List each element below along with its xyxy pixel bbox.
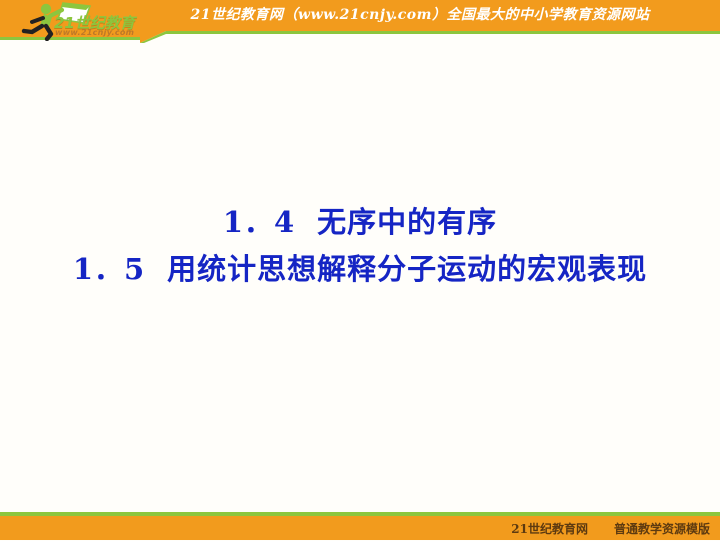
slide-title-line-2-text: 用统计思想解释分子运动的宏观表现 xyxy=(167,252,647,286)
slide-title-line-2: 1．5用统计思想解释分子运动的宏观表现 xyxy=(0,244,720,294)
slide-title-line-1: 1．4无序中的有序 xyxy=(0,200,720,244)
slide-title-line-2-number: 1．5 xyxy=(73,252,145,286)
slide-content-area: 1．4无序中的有序 1．5用统计思想解释分子运动的宏观表现 xyxy=(0,40,720,510)
slide-title-line-1-text: 无序中的有序 xyxy=(317,205,497,239)
slide-title-line-1-number: 1．4 xyxy=(223,205,295,239)
logo-url-text: www.21cnjy.com xyxy=(55,28,134,37)
footer-site-name: 21世纪教育网 xyxy=(511,522,588,536)
footer-template-label: 普通教学资源模版 xyxy=(614,522,710,536)
slide-title-block: 1．4无序中的有序 1．5用统计思想解释分子运动的宏观表现 xyxy=(0,200,720,294)
site-logo[interactable]: 21世纪教育 www.21cnjy.com xyxy=(6,1,156,41)
footer-text-group: 21世纪教育网普通教学资源模版 xyxy=(511,516,710,540)
presentation-slide: 21世纪教育网（www.21cnjy.com）全国最大的中小学教育资源网站 21… xyxy=(0,0,720,540)
